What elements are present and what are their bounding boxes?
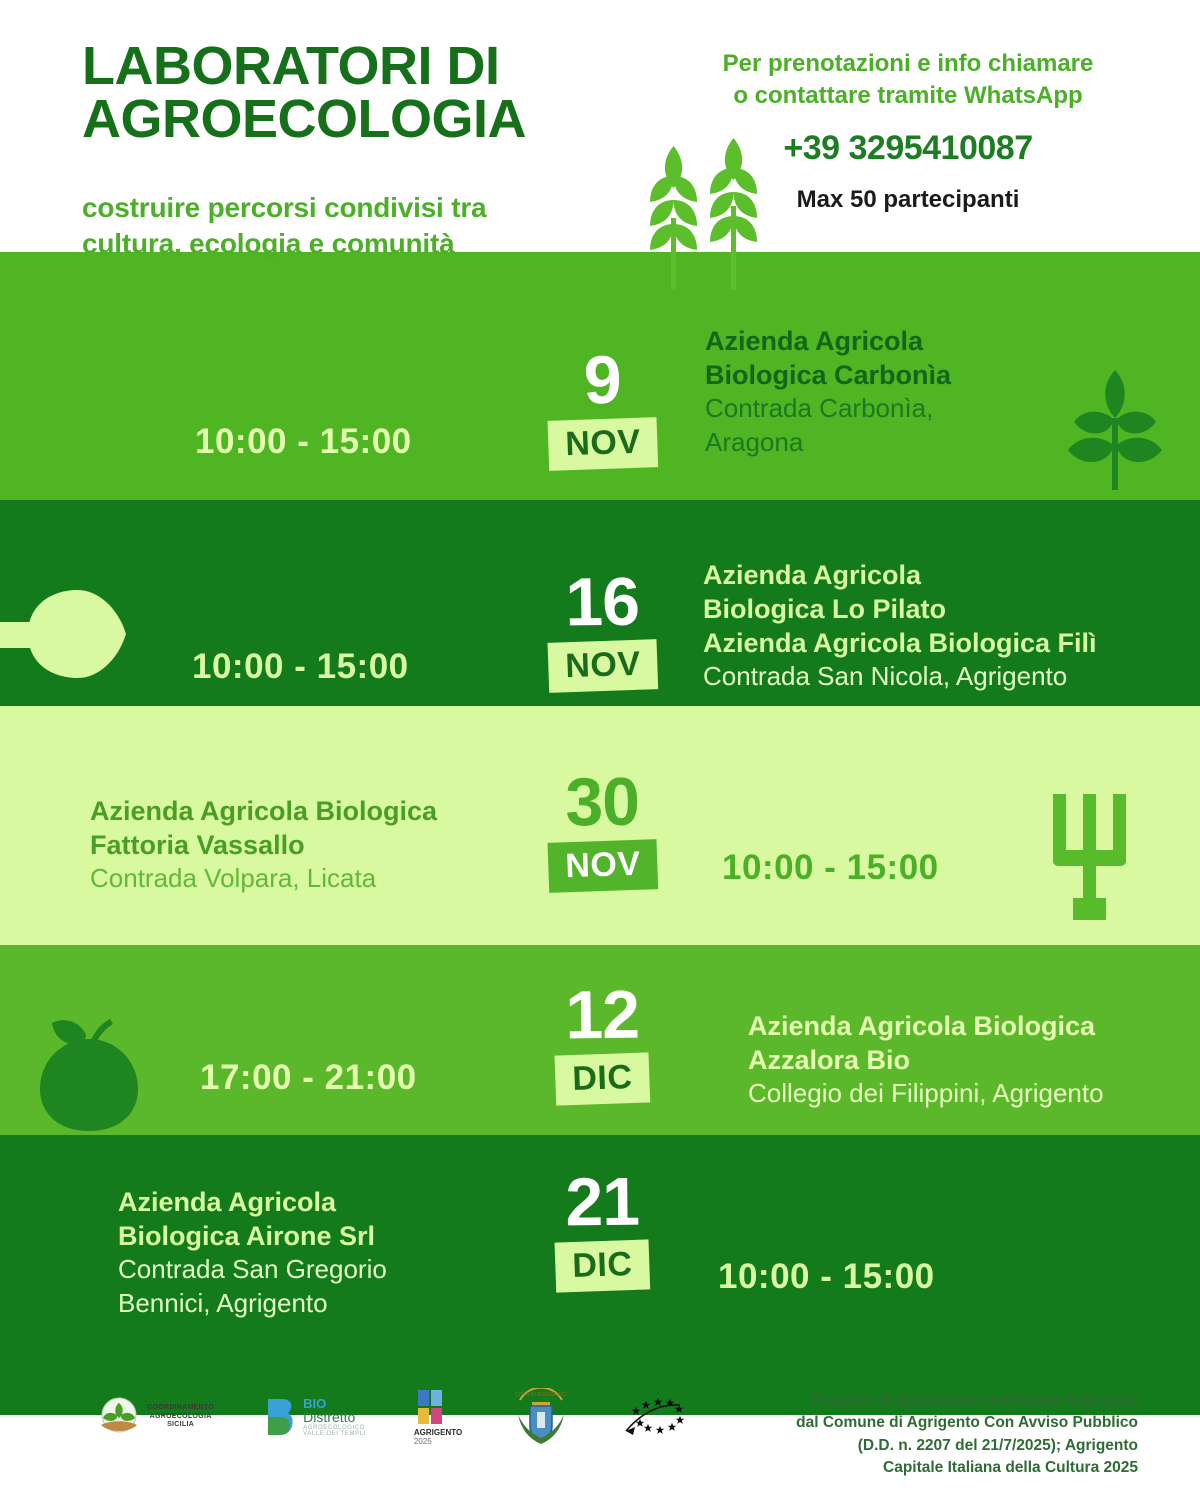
- event-date: 16 NOV: [519, 571, 685, 692]
- event-day: 30: [519, 771, 685, 834]
- contact-block: Per prenotazioni e info chiamare o conta…: [672, 48, 1144, 214]
- event-date: 12 DIC: [519, 984, 685, 1105]
- farm-name-line-2: Biologica Airone Srl: [118, 1219, 518, 1253]
- event-month: NOV: [547, 839, 658, 893]
- logo-text-line-2: Distretto: [303, 1410, 366, 1425]
- pitchfork-icon: [1035, 790, 1145, 920]
- farm-name-line-1: Azienda Agricola: [703, 558, 1173, 592]
- logo-text-line-3: SICILIA: [147, 1421, 214, 1430]
- event-month: NOV: [547, 417, 658, 471]
- agroecologia-emblem-icon: [95, 1395, 143, 1439]
- event-date: 30 NOV: [519, 771, 685, 892]
- logo-text-line-3: AGROECOLOGICO: [303, 1425, 366, 1431]
- place-line-1: Contrada San Gregorio: [118, 1253, 518, 1287]
- credit-line-1: Progetto di animazione territoriale fina…: [768, 1390, 1138, 1412]
- event-month: DIC: [555, 1240, 651, 1293]
- farm-name-line-3: Azienda Agricola Biologica Filì: [703, 626, 1173, 660]
- farm-name-line-1: Azienda Agricola: [118, 1185, 518, 1219]
- event-time: 10:00 - 15:00: [192, 647, 409, 687]
- event-venue: Azienda Agricola Biologica Fattoria Vass…: [90, 794, 490, 896]
- event-venue: Azienda Agricola Biologica Azzalora Bio …: [748, 1009, 1178, 1111]
- page-title: LABORATORI DI AGROECOLOGIA: [82, 40, 642, 146]
- event-row-1: 10:00 - 15:00 9 NOV Azienda Agricola Bio…: [0, 330, 1200, 510]
- event-time: 10:00 - 15:00: [195, 422, 412, 462]
- event-row-3: Azienda Agricola Biologica Fattoria Vass…: [0, 770, 1200, 950]
- bio-distretto-logo: BIO Distretto AGROECOLOGICO VALLE DEI TE…: [262, 1395, 366, 1439]
- event-day: 16: [519, 571, 685, 634]
- poster-header: LABORATORI DI AGROECOLOGIA costruire per…: [0, 0, 1200, 300]
- logo-text-line-2: 2025: [414, 1437, 432, 1446]
- eu-stars-logo: [620, 1395, 686, 1439]
- event-time: 10:00 - 15:00: [722, 848, 939, 888]
- logo-text-line-2: AGROECOLOGIA: [147, 1413, 214, 1422]
- bio-distretto-b-icon: [262, 1395, 300, 1439]
- max-participants: Max 50 partecipanti: [672, 186, 1144, 214]
- event-time: 17:00 - 21:00: [200, 1058, 417, 1098]
- event-time: 10:00 - 15:00: [718, 1257, 935, 1297]
- event-date: 9 NOV: [519, 349, 685, 470]
- contact-line-2: o contattare tramite WhatsApp: [672, 80, 1144, 112]
- shovel-icon: [0, 582, 142, 687]
- credit-line-2: dal Comune di Agrigento Con Avviso Pubbl…: [768, 1412, 1138, 1434]
- poster: LABORATORI DI AGROECOLOGIA costruire per…: [0, 0, 1200, 1500]
- farm-name-line-2: Azzalora Bio: [748, 1043, 1178, 1077]
- event-day: 21: [519, 1171, 685, 1234]
- farm-name-line-1: Azienda Agricola: [705, 324, 1095, 358]
- poster-footer: COORDINAMENTO AGROECOLOGIA SICILIA BIO D…: [0, 1380, 1200, 1500]
- place-line-2: Bennici, Agrigento: [118, 1287, 518, 1321]
- subtitle-line-1: costruire percorsi condivisi tra: [82, 190, 602, 226]
- event-month: NOV: [547, 639, 658, 693]
- farm-name-line-2: Biologica Lo Pilato: [703, 592, 1173, 626]
- agrigento-2025-logo: AGRIGENTO 2025: [414, 1388, 462, 1446]
- phone-number[interactable]: +39 3295410087: [672, 129, 1144, 168]
- farm-name-line-1: Azienda Agricola Biologica: [748, 1009, 1178, 1043]
- farm-name-line-1: Azienda Agricola Biologica: [90, 794, 490, 828]
- farm-name-line-2: Biologica Carbonìa: [705, 358, 1095, 392]
- event-row-2: 10:00 - 15:00 16 NOV Azienda Agricola Bi…: [0, 552, 1200, 732]
- event-day: 12: [519, 984, 685, 1047]
- place-line-1: Contrada San Nicola, Agrigento: [703, 660, 1173, 694]
- title-line-1: LABORATORI DI: [82, 40, 642, 93]
- logo-text-line-1: AGRIGENTO: [414, 1428, 462, 1437]
- place-line-2: Aragona: [705, 426, 1095, 460]
- credit-line-4: Capitale Italiana della Cultura 2025: [768, 1457, 1138, 1479]
- seedling-icon: [1060, 368, 1170, 493]
- agrigento-2025-mark-icon: [414, 1388, 456, 1426]
- credit-line-3: (D.D. n. 2207 del 21/7/2025); Agrigento: [768, 1435, 1138, 1457]
- citta-di-agrigento-crest: CITTÀ DI AGRIGENTO: [510, 1388, 572, 1446]
- event-row-4: 17:00 - 21:00 12 DIC Azienda Agricola Bi…: [0, 985, 1200, 1165]
- coordinamento-agroecologia-sicilia-logo: COORDINAMENTO AGROECOLOGIA SICILIA: [95, 1395, 214, 1439]
- page-subtitle: costruire percorsi condivisi tra cultura…: [82, 190, 602, 263]
- apple-icon: [24, 1013, 154, 1133]
- place-line-1: Contrada Carbonìa,: [705, 392, 1095, 426]
- logo-text-line-4: VALLE DEI TEMPLI: [303, 1431, 366, 1437]
- event-venue: Azienda Agricola Biologica Airone Srl Co…: [118, 1185, 518, 1321]
- logo-strip: COORDINAMENTO AGROECOLOGIA SICILIA BIO D…: [95, 1388, 686, 1446]
- contact-line-1: Per prenotazioni e info chiamare: [672, 48, 1144, 80]
- crest-label: CITTÀ DI AGRIGENTO: [515, 1391, 567, 1398]
- place-line-1: Contrada Volpara, Licata: [90, 862, 490, 896]
- city-crest-icon: CITTÀ DI AGRIGENTO: [510, 1388, 572, 1446]
- title-line-2: AGROECOLOGIA: [82, 93, 642, 146]
- event-venue: Azienda Agricola Biologica Carbonìa Cont…: [705, 324, 1095, 460]
- farm-name-line-2: Fattoria Vassallo: [90, 828, 490, 862]
- subtitle-line-2: cultura, ecologia e comunità: [82, 226, 602, 262]
- logo-text-line-1: COORDINAMENTO: [147, 1404, 214, 1413]
- funding-credit: Progetto di animazione territoriale fina…: [768, 1390, 1138, 1480]
- place-line-1: Collegio dei Filippini, Agrigento: [748, 1077, 1178, 1111]
- event-row-5: Azienda Agricola Biologica Airone Srl Co…: [0, 1175, 1200, 1375]
- event-venue: Azienda Agricola Biologica Lo Pilato Azi…: [703, 558, 1173, 694]
- eu-organic-stars-icon: [620, 1395, 686, 1439]
- event-month: DIC: [555, 1053, 651, 1106]
- event-date: 21 DIC: [519, 1171, 685, 1292]
- event-day: 9: [519, 349, 685, 412]
